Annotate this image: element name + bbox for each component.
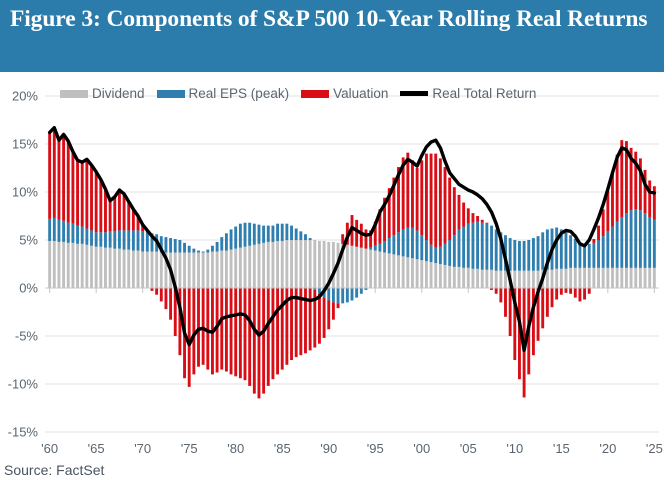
legend-swatch-icon	[60, 90, 88, 98]
legend-item-label: Real EPS (peak)	[189, 86, 290, 101]
legend-item-label: Valuation	[333, 86, 388, 101]
legend-item-label: Real Total Return	[432, 86, 536, 101]
source-note: Source: FactSet	[4, 462, 104, 478]
legend-item[interactable]: Real EPS (peak)	[157, 86, 290, 101]
legend-swatch-icon	[400, 91, 428, 96]
legend-items: DividendReal EPS (peak)ValuationReal Tot…	[60, 86, 536, 101]
figure-title-banner: Figure 3: Components of S&P 500 10-Year …	[0, 0, 664, 72]
chart-legend: DividendReal EPS (peak)ValuationReal Tot…	[0, 72, 664, 456]
legend-item-label: Dividend	[92, 86, 145, 101]
chart-plot-area: 20%15%10%5%0%-5%-10%-15%'60'65'70'75'80'…	[0, 72, 664, 456]
legend-swatch-icon	[157, 90, 185, 98]
legend-item[interactable]: Real Total Return	[400, 86, 536, 101]
figure-root: Figure 3: Components of S&P 500 10-Year …	[0, 0, 664, 491]
legend-item[interactable]: Dividend	[60, 86, 145, 101]
page-title: Figure 3: Components of S&P 500 10-Year …	[10, 4, 650, 34]
legend-swatch-icon	[301, 90, 329, 98]
legend-item[interactable]: Valuation	[301, 86, 388, 101]
